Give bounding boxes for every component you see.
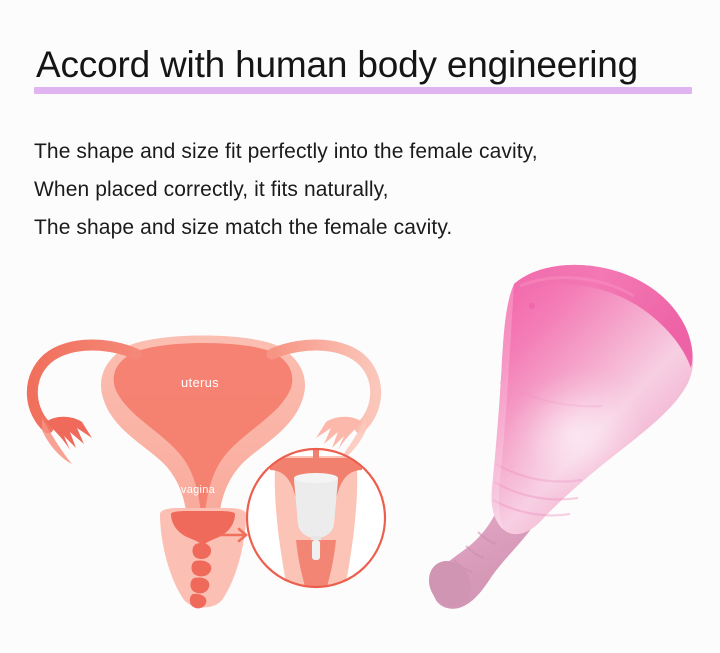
body-line-2: When placed correctly, it fits naturally… — [34, 171, 674, 209]
anatomy-illustration — [8, 318, 400, 618]
menstrual-cup-image — [404, 232, 720, 632]
heading-block: Accord with human body engineering — [34, 42, 694, 98]
body-line-1: The shape and size fit perfectly into th… — [34, 133, 674, 171]
anatomy-diagram: uterus vagina — [8, 318, 400, 618]
title-underline — [34, 87, 692, 94]
product-photo — [404, 232, 720, 632]
marketing-slide: Accord with human body engineering The s… — [0, 0, 720, 653]
body-copy: The shape and size fit perfectly into th… — [34, 133, 674, 247]
rim-blemish-mark — [529, 303, 535, 309]
inset-detail-circle — [247, 449, 385, 592]
page-title: Accord with human body engineering — [36, 42, 638, 88]
left-ovary-fimbriae — [42, 417, 92, 464]
